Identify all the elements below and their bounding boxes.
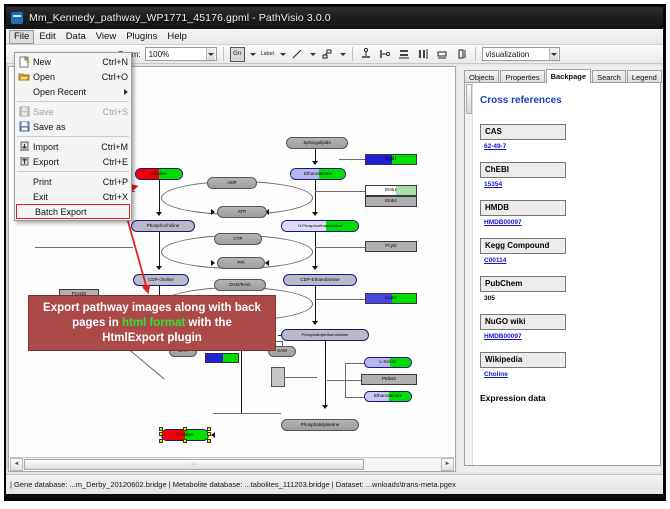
transport-node[interactable] [271, 367, 285, 387]
blank-icon [15, 190, 33, 204]
scrollbar-thumb[interactable]: ⋯ [24, 459, 364, 470]
selection-handle[interactable] [207, 427, 211, 431]
menu-item-save: Save Ctrl+S [15, 104, 131, 119]
export-icon [15, 155, 33, 169]
new-file-icon [15, 55, 33, 69]
connector-line [315, 191, 367, 192]
distribute-vertical-icon[interactable] [397, 47, 412, 62]
toolbar-separator [352, 47, 353, 61]
toolbar-separator [223, 47, 224, 61]
node-label: Phosphatidylserine [301, 423, 340, 428]
menu-item-label: Export [33, 157, 97, 167]
menu-item-label: Exit [33, 192, 97, 202]
connector-line [213, 413, 253, 414]
menu-separator [17, 136, 129, 137]
metabolite-node-ctp[interactable]: CTP [214, 233, 262, 245]
metabolite-node-ethanolamine-top[interactable]: Ethanolamine [290, 168, 346, 180]
cross-reference-entry: NuGO wikiHMDB00097 [480, 314, 650, 349]
cross-reference-link[interactable]: C00114 [480, 254, 650, 273]
expression-data-heading: Expression data [480, 393, 650, 403]
node-label: Phosphocholine [147, 224, 180, 229]
metabolite-node-sphingolipids[interactable]: Sphingolipids [286, 137, 348, 149]
chevron-down-icon [206, 48, 215, 60]
selection-handle[interactable] [207, 432, 211, 436]
cross-reference-link[interactable]: HMDB00097 [480, 216, 650, 235]
cross-reference-link[interactable]: Choline [480, 368, 650, 387]
scrollbar-track[interactable] [365, 458, 441, 471]
window-title: Mm_Kennedy_pathway_WP1771_45176.gpml - P… [29, 12, 331, 24]
node-label: Ethanolamine [304, 172, 332, 177]
align-left-icon[interactable] [378, 47, 393, 62]
folder-open-icon [15, 70, 33, 84]
status-text: | Gene database: ...m_Derby_20120602.bri… [6, 480, 456, 489]
connector-line [241, 351, 242, 413]
metabolite-node-dag-rag[interactable]: DAG/RAG [214, 279, 266, 291]
pathvisio-icon [11, 12, 23, 24]
menu-separator [17, 171, 129, 172]
gene-node-ptdss2[interactable]: Ptdss2 [361, 374, 417, 385]
node-label: Sphingolipids [303, 141, 330, 146]
node-label: PPi [237, 261, 244, 266]
pathvisio-window: Mm_Kennedy_pathway_WP1771_45176.gpml - P… [6, 7, 663, 494]
node-label: ATP [238, 210, 247, 215]
chevron-down-icon[interactable] [340, 53, 346, 56]
menu-item-accel: Ctrl+O [96, 72, 128, 82]
cross-reference-link[interactable]: 15354 [480, 178, 650, 197]
gene-node-etnk2[interactable]: Etnk2 [365, 196, 417, 207]
menu-item-open-recent[interactable]: Open Recent [15, 84, 131, 99]
cross-reference-key: HMDB [480, 200, 566, 216]
annotation-text: Export pathway images along with back pa… [37, 301, 267, 346]
cross-reference-entry: CAS62-49-7 [480, 124, 650, 159]
node-label: SAM [277, 349, 287, 354]
metabolite-node-o-phosphoethanolamine[interactable]: O-Phosphoethanolamine [281, 220, 359, 232]
cross-reference-entry: Kegg CompoundC00114 [480, 238, 650, 273]
zoom-value: 100% [149, 50, 169, 59]
connector-line [159, 180, 160, 214]
menu-help[interactable]: Help [162, 30, 192, 44]
annotation-line-3: HtmlExport plugin [102, 332, 202, 344]
align-top-icon[interactable] [359, 47, 374, 62]
cross-reference-entry: HMDBHMDB00097 [480, 200, 650, 235]
node-label: Choline [151, 172, 167, 177]
node-label: Etnk2 [385, 199, 397, 204]
status-bar: | Gene database: ...m_Derby_20120602.bri… [6, 474, 663, 494]
node-label: CDP-Ethanolamine [300, 278, 339, 283]
connector-line [315, 247, 367, 248]
selection-handle[interactable] [159, 432, 163, 436]
distribute-horizontal-icon[interactable] [416, 47, 431, 62]
cross-reference-key: PubChem [480, 276, 566, 292]
toolbar-separator [475, 47, 476, 61]
metabolite-node-choline-top[interactable]: Choline [135, 168, 183, 180]
metabolite-node-cdp-choline[interactable]: CDP-choline [133, 274, 189, 286]
chevron-right-icon [124, 89, 128, 95]
menu-item-import[interactable]: Import Ctrl+M [15, 139, 131, 154]
cross-reference-link[interactable]: HMDB00097 [480, 330, 650, 349]
menu-item-label: Open Recent [33, 87, 120, 97]
selection-handle[interactable] [183, 427, 187, 431]
menu-edit[interactable]: Edit [34, 30, 60, 44]
cross-reference-link[interactable]: 62-49-7 [480, 140, 650, 159]
menu-item-label: Print [33, 177, 97, 187]
cross-reference-list: CAS62-49-7ChEBI15354HMDBHMDB00097Kegg Co… [480, 124, 650, 387]
scroll-left-button[interactable]: ◄ [10, 458, 23, 471]
arrow-head-icon [211, 209, 215, 215]
chevron-down-icon[interactable] [280, 53, 286, 56]
cross-reference-key: Kegg Compound [480, 238, 566, 254]
gene-node-etnk1[interactable]: Etnk1 [365, 185, 417, 196]
connector-line [315, 232, 316, 268]
same-height-icon[interactable] [454, 47, 469, 62]
menu-item-accel: Ctrl+X [97, 192, 128, 202]
blank-icon [17, 205, 35, 219]
metabolite-node-phosphatidylserine[interactable]: Phosphatidylserine [281, 419, 359, 431]
connector-line [345, 363, 365, 364]
save-disk-icon [15, 105, 33, 119]
menu-item-print[interactable]: Print Ctrl+P [15, 174, 131, 189]
selection-handle[interactable] [159, 427, 163, 431]
metabolite-node-ethanolamine-right[interactable]: Ethanolamine [364, 391, 412, 402]
node-label: Choline [177, 433, 193, 438]
gene-node-cept1[interactable]: Cept1 [365, 293, 417, 304]
backpage-content: Cross references CAS62-49-7ChEBI15354HMD… [474, 83, 660, 465]
annotation-line-2-a: pages in [72, 317, 122, 329]
menu-item-label: Save [33, 107, 97, 117]
backpage-scrollbar[interactable] [465, 83, 473, 465]
cross-reference-entry: WikipediaCholine [480, 352, 650, 387]
arrow-head-icon [156, 212, 162, 216]
metabolite-node-cdp-ethanolamine[interactable]: CDP-Ethanolamine [283, 274, 357, 286]
scroll-right-button[interactable]: ► [441, 458, 454, 471]
arrow-head-icon [312, 321, 318, 325]
menu-bar: File Edit Data View Plugins Help [6, 29, 663, 45]
node-label: CDP-choline [148, 278, 174, 283]
metabolite-node-atp[interactable]: ATP [217, 206, 267, 218]
menu-item-label: Batch Export [35, 207, 126, 217]
menu-item-accel: Ctrl+E [97, 157, 128, 167]
zoom-combo[interactable]: 100% [145, 47, 217, 61]
node-label: CTP [233, 237, 242, 242]
node-fill-right [396, 186, 416, 195]
connector-line [35, 247, 133, 248]
arrow-head-icon [211, 432, 215, 438]
selection-handle[interactable] [159, 439, 163, 443]
node-label: O-Phosphoethanolamine [298, 224, 342, 228]
node-label: Sgpl1 [385, 157, 397, 162]
connector-line [325, 341, 326, 407]
shape-tool-button[interactable] [320, 47, 335, 62]
blank-icon [15, 175, 33, 189]
annotation-line-1: Export pathway images along with back [43, 302, 261, 314]
cross-reference-value: 305 [480, 292, 650, 311]
canvas-horizontal-scrollbar[interactable]: ◄ ⋯ ► [10, 457, 454, 470]
line-tool-button[interactable] [290, 47, 305, 62]
chevron-down-icon[interactable] [310, 53, 316, 56]
metabolite-node-phosphocholine[interactable]: Phosphocholine [131, 220, 195, 232]
connector-line [129, 349, 165, 379]
menu-file[interactable]: File [9, 30, 34, 44]
cross-reference-entry: PubChem305 [480, 276, 650, 311]
blank-icon [15, 85, 33, 99]
save-as-icon [15, 120, 33, 134]
menu-item-label: Save as [33, 122, 122, 132]
menu-item-label: Open [33, 72, 96, 82]
arrow-head-icon [211, 260, 215, 266]
node-label: DAG/RAG [229, 283, 250, 288]
gene-node-sgpl1[interactable]: Sgpl1 [365, 154, 417, 165]
node-label: L-Serine [379, 360, 396, 365]
menu-item-batch-export[interactable]: Batch Export [16, 204, 130, 219]
menu-item-save-as[interactable]: Save as [15, 119, 131, 134]
menu-item-export[interactable]: Export Ctrl+E [15, 154, 131, 169]
node-label: Ethanolamine [374, 394, 402, 399]
connector-line [315, 286, 316, 323]
connector-line [339, 159, 367, 160]
menu-item-accel: Ctrl+P [97, 177, 128, 187]
metabolite-node-ppi[interactable]: PPi [217, 257, 265, 269]
menu-plugins[interactable]: Plugins [121, 30, 162, 44]
geneproduct-tool-button[interactable]: Gn [230, 47, 245, 62]
node-label: Pcyt2 [385, 244, 397, 249]
cross-reference-key: Wikipedia [480, 352, 566, 368]
menu-item-label: Import [33, 142, 95, 152]
backpage-panel: Cross references CAS62-49-7ChEBI15354HMD… [464, 82, 661, 466]
menu-item-new[interactable]: New Ctrl+N [15, 54, 131, 69]
gene-box-small[interactable] [205, 353, 239, 363]
metabolite-node-phosphatidylethanolamine[interactable]: Phosphatidylethanolamine [281, 329, 369, 341]
screenshot-frame: Mm_Kennedy_pathway_WP1771_45176.gpml - P… [0, 0, 670, 509]
gene-node-pcyt2[interactable]: Pcyt2 [365, 241, 417, 252]
node-label: Etnk1 [385, 188, 397, 193]
chevron-down-icon[interactable] [250, 53, 256, 56]
metabolite-node-adp[interactable]: ADP [207, 177, 257, 189]
label-tool-button[interactable]: Label [260, 47, 275, 62]
annotation-line-2-b: with the [185, 317, 232, 329]
node-label: Ptdss2 [382, 377, 396, 382]
menu-item-open[interactable]: Open Ctrl+O [15, 69, 131, 84]
visualization-value: visualization [486, 50, 530, 59]
arrow-head-icon [265, 260, 269, 266]
cross-reference-key: CAS [480, 124, 566, 140]
arrow-head-icon [312, 212, 318, 216]
connector-line [345, 397, 365, 398]
cross-reference-key: ChEBI [480, 162, 566, 178]
selection-handle[interactable] [183, 439, 187, 443]
visualization-combo[interactable]: visualization [482, 47, 560, 61]
connector-line [159, 232, 160, 268]
menu-item-accel: Ctrl+S [97, 107, 128, 117]
same-width-icon[interactable] [435, 47, 450, 62]
file-menu-dropdown[interactable]: New Ctrl+N Open Ctrl+O Open Recent [14, 52, 132, 221]
node-label: Phosphatidylethanolamine [302, 333, 349, 337]
menu-item-accel: Ctrl+M [95, 142, 128, 152]
selection-handle[interactable] [207, 439, 211, 443]
cross-reference-key: NuGO wiki [480, 314, 566, 330]
connector-line [285, 377, 317, 378]
metabolite-node-l-serine[interactable]: L-Serine [364, 357, 412, 368]
annotation-line-2-highlight: html format [122, 317, 185, 329]
chevron-down-icon [549, 48, 558, 60]
connector-line [315, 180, 316, 214]
backpage-heading: Cross references [480, 95, 650, 106]
connector-line [327, 380, 361, 381]
node-label: Cept1 [385, 296, 397, 301]
menu-separator [17, 101, 129, 102]
menu-item-exit[interactable]: Exit Ctrl+X [15, 189, 131, 204]
tab-backpage[interactable]: Backpage [546, 69, 591, 83]
menu-item-accel: Ctrl+N [96, 57, 128, 67]
scrollbar-thumb[interactable] [466, 84, 472, 114]
arrow-head-icon [156, 266, 162, 270]
menu-view[interactable]: View [91, 30, 121, 44]
sidebar-tabs: Objects Properties Backpage Search Legen… [464, 69, 661, 83]
menu-data[interactable]: Data [61, 30, 91, 44]
node-label: ADP [227, 181, 236, 186]
arrow-head-icon [322, 405, 328, 409]
menu-item-label: New [33, 57, 96, 67]
annotation-callout: Export pathway images along with back pa… [28, 295, 276, 351]
arrow-head-icon [312, 161, 318, 165]
import-icon [15, 140, 33, 154]
right-sidebar: Objects Properties Backpage Search Legen… [458, 66, 661, 472]
connector-line [315, 299, 367, 300]
arrow-head-icon [312, 266, 318, 270]
cross-reference-entry: ChEBI15354 [480, 162, 650, 197]
title-bar: Mm_Kennedy_pathway_WP1771_45176.gpml - P… [6, 7, 663, 29]
